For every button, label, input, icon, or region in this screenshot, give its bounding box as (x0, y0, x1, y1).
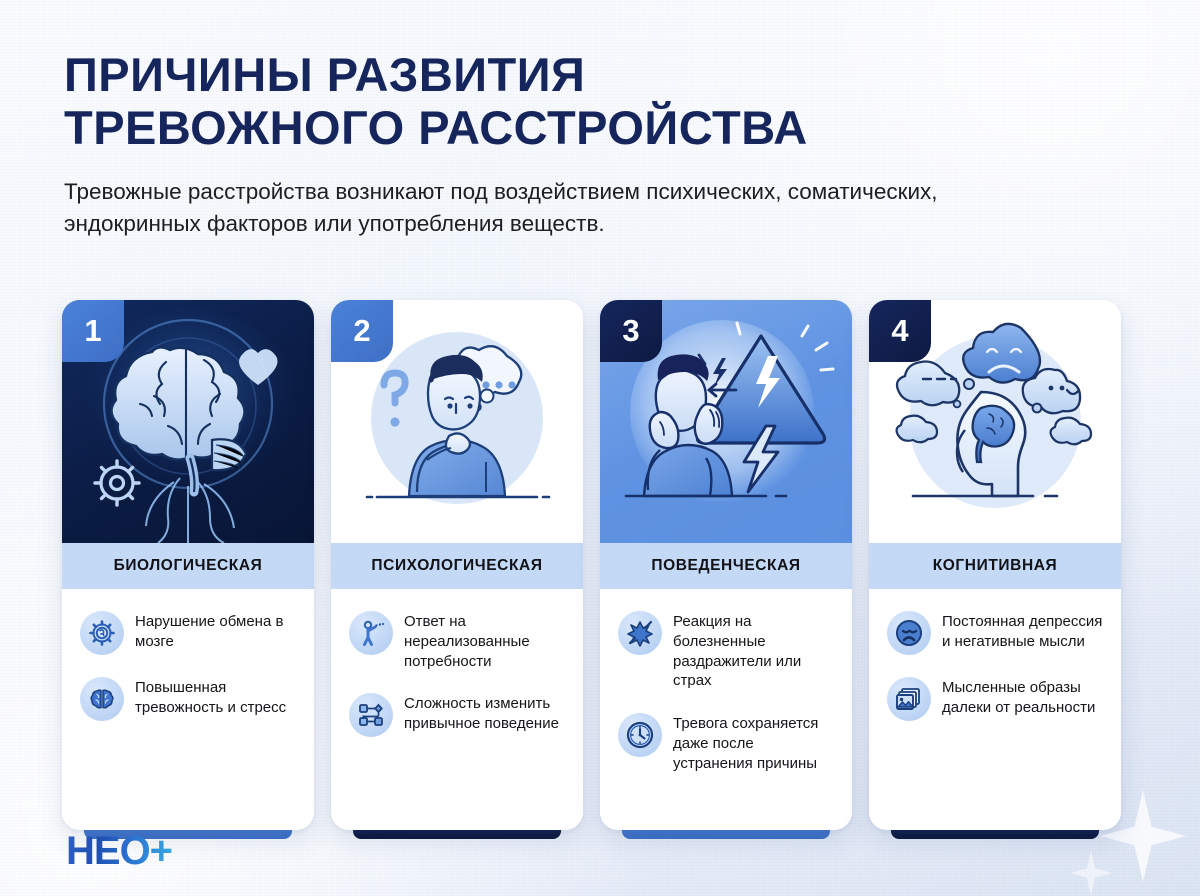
sad-face-icon (887, 611, 931, 655)
bullet-item: Реакция на болезненные раздражители или … (618, 611, 836, 691)
page-title: ПРИЧИНЫ РАЗВИТИЯ ТРЕВОЖНОГО РАССТРОЙСТВА (64, 48, 1064, 154)
bullet-item: Нарушение обмена в мозге (80, 611, 298, 655)
photos-icon (887, 677, 931, 721)
card-label-band: ПСИХОЛОГИЧЕСКАЯ (331, 543, 583, 589)
card-label: ПОВЕДЕНЧЕСКАЯ (651, 557, 800, 575)
card-biological[interactable]: 1 БИОЛОГИЧЕСКАЯ (62, 300, 314, 830)
card-label: БИОЛОГИЧЕСКАЯ (114, 557, 263, 575)
card-illustration-area: 4 (869, 300, 1121, 543)
bullet-text: Сложность изменить привычное поведение (404, 693, 567, 734)
bullet-item: Мысленные образы далеки от реальности (887, 677, 1105, 721)
card-label-band: БИОЛОГИЧЕСКАЯ (62, 543, 314, 589)
card-illustration-area: 1 (62, 300, 314, 543)
clock-icon (618, 713, 662, 757)
bullet-text: Ответ на нереализованные потребности (404, 611, 567, 671)
card-psychological[interactable]: 2 ПСИХОЛОГИЧЕСКАЯ Ответ на нереализов (331, 300, 583, 830)
page-title-line2: ТРЕВОЖНОГО РАССТРОЙСТВА (64, 101, 1064, 154)
brain-icon (80, 677, 124, 721)
flowchart-icon (349, 693, 393, 737)
card-bullet-list: Ответ на нереализованные потребности (331, 589, 583, 830)
burst-icon (618, 611, 662, 655)
bullet-text: Постоянная депрессия и негативные мысли (942, 611, 1105, 652)
card-label-band: КОГНИТИВНАЯ (869, 543, 1121, 589)
bullet-item: Повышенная тревожность и стресс (80, 677, 298, 721)
card-number-badge: 4 (869, 300, 931, 362)
card-illustration-area: 2 (331, 300, 583, 543)
gear-metabolism-icon (80, 611, 124, 655)
brand-logo: НЕО+ (66, 829, 172, 874)
card-label-band: ПОВЕДЕНЧЕСКАЯ (600, 543, 852, 589)
bullet-text: Мысленные образы далеки от реальности (942, 677, 1105, 718)
bullet-text: Нарушение обмена в мозге (135, 611, 298, 652)
card-behavioral[interactable]: 3 ПОВЕДЕНЧЕСКАЯ Реакция на болезненные р… (600, 300, 852, 830)
person-reaching-icon (349, 611, 393, 655)
card-number-badge: 1 (62, 300, 124, 362)
header: ПРИЧИНЫ РАЗВИТИЯ ТРЕВОЖНОГО РАССТРОЙСТВА… (64, 48, 1064, 240)
bullet-item: Тревога сохраняется даже после устранени… (618, 713, 836, 773)
page-subtitle: Тревожные расстройства возникают под воз… (64, 176, 1019, 240)
bullet-text: Повышенная тревожность и стресс (135, 677, 298, 718)
card-bullet-list: Нарушение обмена в мозге Повыш (62, 589, 314, 830)
card-illustration-area: 3 (600, 300, 852, 543)
card-label: КОГНИТИВНАЯ (933, 557, 1058, 575)
page-title-line1: ПРИЧИНЫ РАЗВИТИЯ (64, 48, 585, 101)
bullet-text: Тревога сохраняется даже после устранени… (673, 713, 836, 773)
card-label: ПСИХОЛОГИЧЕСКАЯ (371, 557, 542, 575)
card-bullet-list: Реакция на болезненные раздражители или … (600, 589, 852, 830)
sparkle-decoration-small (1070, 850, 1112, 896)
card-number-badge: 2 (331, 300, 393, 362)
bullet-item: Постоянная депрессия и негативные мысли (887, 611, 1105, 655)
bullet-item: Ответ на нереализованные потребности (349, 611, 567, 671)
bullet-item: Сложность изменить привычное поведение (349, 693, 567, 737)
card-bullet-list: Постоянная депрессия и негативные мысли … (869, 589, 1121, 830)
bullet-text: Реакция на болезненные раздражители или … (673, 611, 836, 691)
cards-row: 1 БИОЛОГИЧЕСКАЯ (62, 300, 1144, 830)
card-cognitive[interactable]: 4 КОГНИТИВНАЯ Постоянная депрессия и (869, 300, 1121, 830)
card-number-badge: 3 (600, 300, 662, 362)
